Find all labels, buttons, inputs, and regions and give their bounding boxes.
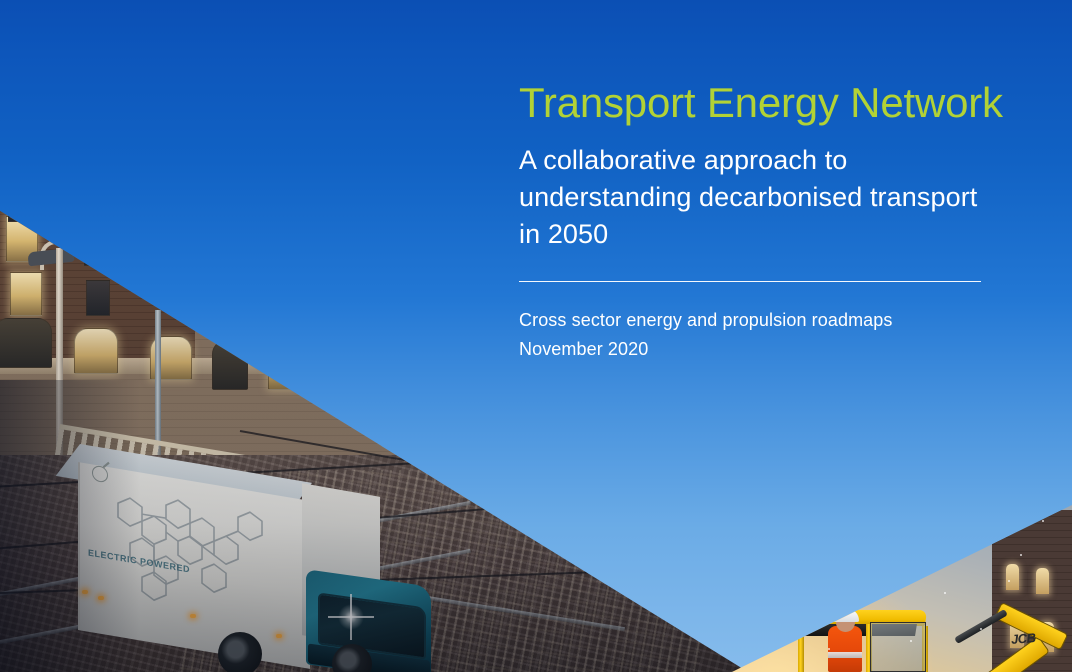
page-subtitle: A collaborative approach to understandin… — [519, 142, 989, 253]
meta-line-2: November 2020 — [519, 339, 648, 359]
tower-window — [1036, 568, 1049, 594]
headlight-flare — [338, 604, 364, 630]
jcb-badge: JCB — [1011, 630, 1037, 647]
worker-reflective-stripe — [828, 652, 862, 658]
truck-marker-light — [190, 614, 196, 618]
building-window — [8, 190, 34, 222]
truck-marker-light — [98, 596, 104, 600]
title-slide: ELECTRIC POWERED JCB — [0, 0, 1072, 672]
title-text-block: Transport Energy Network A collaborative… — [519, 78, 989, 364]
truck-marker-light — [276, 634, 282, 638]
page-meta: Cross sector energy and propulsion roadm… — [519, 306, 989, 364]
photo-jcb-excavator: JCB — [732, 480, 1072, 672]
worker-hivis-jacket — [828, 626, 862, 672]
building-window — [10, 272, 42, 316]
hard-hat-icon — [832, 609, 859, 622]
building-arch — [0, 318, 52, 368]
building-arch — [268, 344, 314, 390]
page-title: Transport Energy Network — [519, 78, 989, 128]
building-doorway — [212, 340, 248, 390]
building-arch — [344, 352, 386, 394]
electric-truck: ELECTRIC POWERED — [70, 438, 440, 672]
truck-wheel — [218, 632, 262, 672]
building-window — [86, 280, 110, 316]
excavator-cab-glass — [870, 622, 926, 672]
title-divider — [519, 281, 981, 282]
truck-marker-light — [82, 590, 88, 594]
building-window — [84, 230, 108, 266]
canopy-post — [798, 622, 804, 672]
building-arch — [74, 328, 118, 374]
meta-line-1: Cross sector energy and propulsion roadm… — [519, 310, 893, 330]
tower-window — [1006, 564, 1019, 590]
